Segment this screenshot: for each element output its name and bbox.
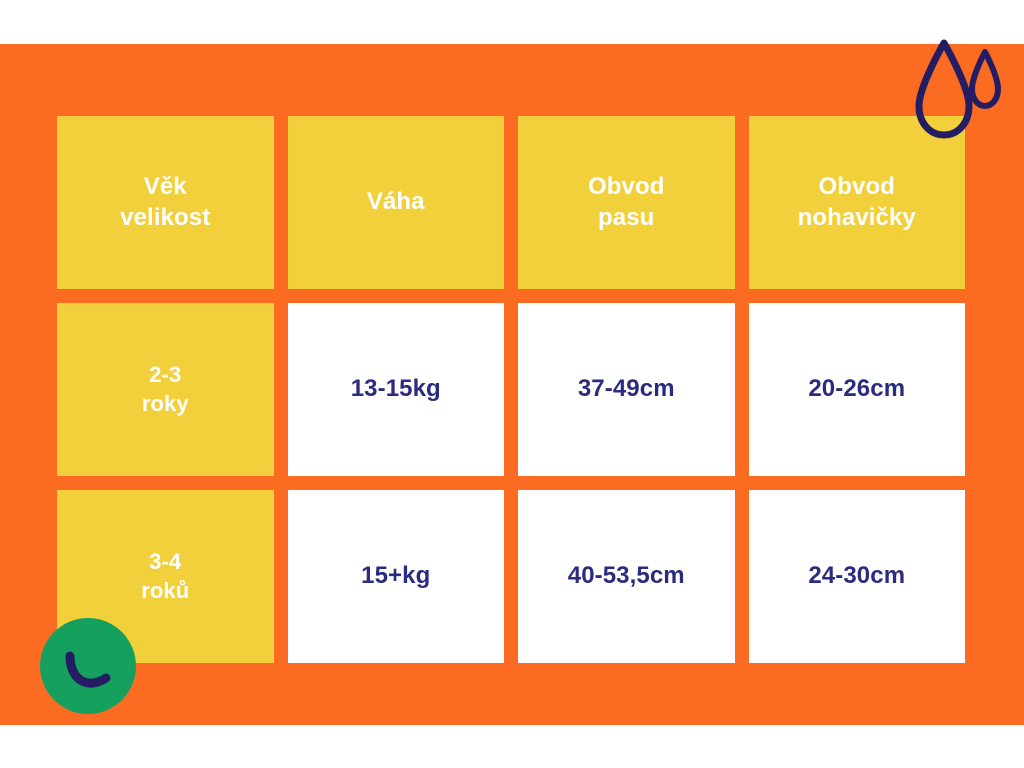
row1-leg-value: 20-26cm [749, 303, 966, 476]
table-row: 2-3 roky [57, 303, 274, 476]
table-header-weight: Váha [288, 116, 505, 289]
row2-waist-value: 40-53,5cm [518, 490, 735, 663]
size-chart-table: Věk velikost Váha Obvod pasu Obvod nohav… [57, 116, 965, 663]
row2-age-line2: roků [141, 577, 189, 605]
row2-age-line1: 3-4 [149, 549, 181, 574]
table-header-waist-line1: Obvod [588, 173, 665, 200]
table-header-weight-line1: Váha [367, 188, 425, 215]
table-header-leg-line1: Obvod [818, 173, 895, 200]
row2-leg-value: 24-30cm [749, 490, 966, 663]
table-header-age: Věk velikost [57, 116, 274, 289]
table-header-waist-line2: pasu [588, 203, 665, 234]
row1-waist-value: 37-49cm [518, 303, 735, 476]
smiley-face-icon [40, 618, 136, 714]
table-header-waist: Obvod pasu [518, 116, 735, 289]
table-header-leg: Obvod nohavičky [749, 116, 966, 289]
row1-age-line2: roky [142, 390, 189, 418]
row2-weight-value: 15+kg [288, 490, 505, 663]
table-header-age-line1: Věk [144, 173, 187, 200]
table-header-age-line2: velikost [120, 203, 210, 234]
table-header-leg-line2: nohavičky [798, 203, 916, 234]
row1-age-line1: 2-3 [149, 362, 181, 387]
row1-weight-value: 13-15kg [288, 303, 505, 476]
poster-canvas: Věk velikost Váha Obvod pasu Obvod nohav… [0, 0, 1024, 768]
